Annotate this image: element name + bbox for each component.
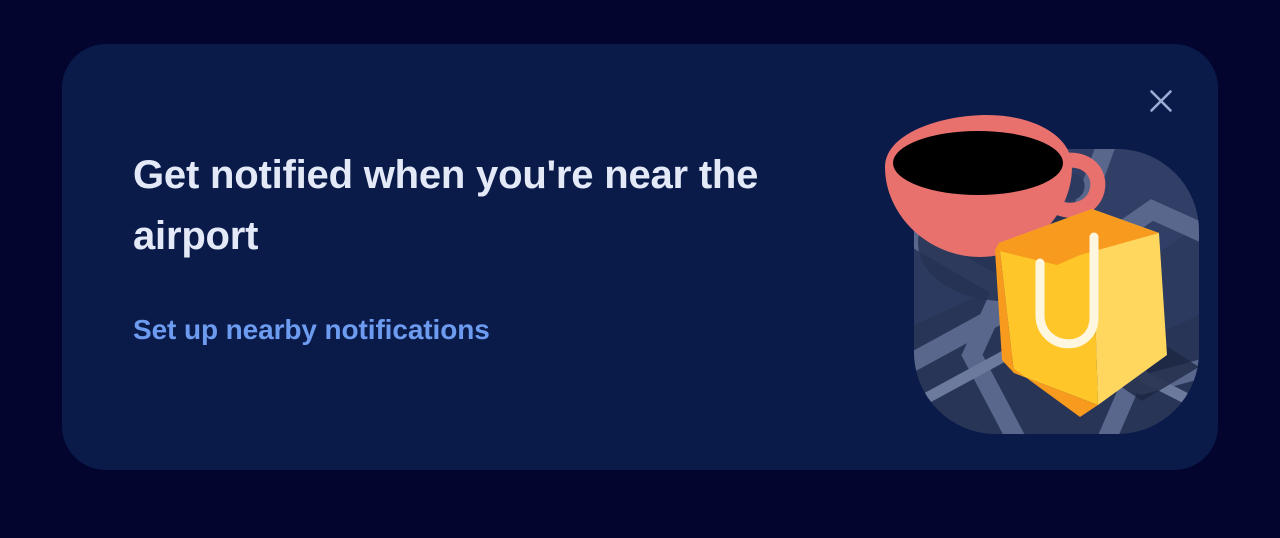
page-title: Get notified when you're near the airpor…: [133, 145, 773, 267]
promo-illustration: [852, 105, 1202, 450]
promo-card: Get notified when you're near the airpor…: [62, 44, 1218, 470]
link-row: Set up nearby notifications: [133, 313, 813, 347]
card-text-block: Get notified when you're near the airpor…: [133, 145, 813, 347]
setup-nearby-notifications-link[interactable]: Set up nearby notifications: [133, 313, 490, 347]
